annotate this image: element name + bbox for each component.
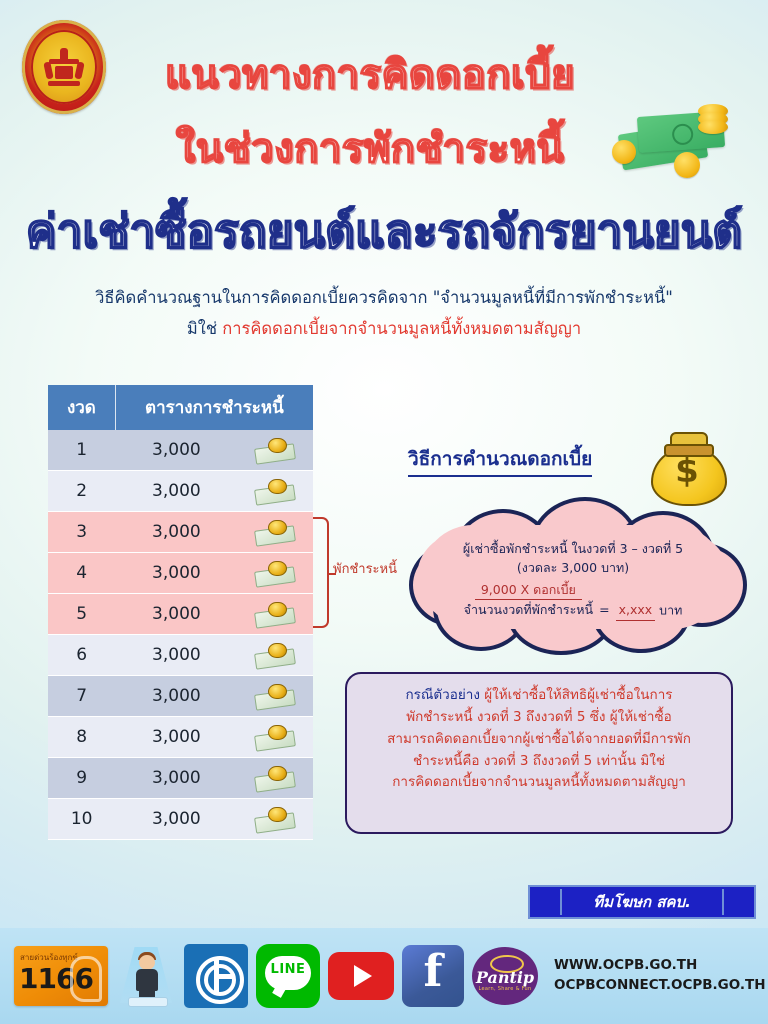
facebook-label: f xyxy=(402,950,464,994)
formula-numerator: 9,000 X ดอกเบี้ย xyxy=(475,580,582,600)
cell-amount: 3,000 xyxy=(115,512,237,553)
website-urls: WWW.OCPB.GO.TH OCPBCONNECT.OCPB.GO.TH xyxy=(554,956,766,995)
officer-avatar-icon xyxy=(116,945,176,1007)
infographic-poster: แนวทางการคิดดอกเบี้ย ในช่วงการพักชำระหนี… xyxy=(0,0,768,1024)
example-line-2: พักชำระหนี้ งวดที่ 3 ถึงงวดที่ 5 ซึ่ง ผู… xyxy=(363,707,715,729)
pantip-icon[interactable]: Pantip Learn, Share & Fun xyxy=(472,947,538,1005)
table-row: 103,000 xyxy=(48,799,313,840)
footer-bar: สายด่วนร้องทุกข์ 1166 LINE f Pantip Lear… xyxy=(0,928,768,1024)
cell-amount: 3,000 xyxy=(115,594,237,635)
cell-period: 3 xyxy=(48,512,115,553)
cloud-line-2: (งวดละ 3,000 บาท) xyxy=(427,558,719,577)
money-bag-icon: $ xyxy=(648,424,726,504)
table-body: 13,00023,00033,00043,00053,00063,00073,0… xyxy=(48,430,313,840)
cell-amount: 3,000 xyxy=(115,430,237,471)
example-line-1-rest: ผู้ให้เช่าซื้อให้สิทธิผู้เช่าซื้อในการ xyxy=(484,687,672,703)
money-note-icon xyxy=(255,479,295,503)
cell-period: 6 xyxy=(48,635,115,676)
cell-money-icon xyxy=(237,512,313,553)
formula-denominator: จำนวนงวดที่พักชำระหนี้ xyxy=(464,600,593,619)
facebook-icon[interactable]: f xyxy=(402,945,464,1007)
ocpb-seal-icon xyxy=(22,20,106,114)
line-app-icon[interactable]: LINE xyxy=(256,944,320,1008)
cell-money-icon xyxy=(237,676,313,717)
money-note-icon xyxy=(255,725,295,749)
table-row: 73,000 xyxy=(48,676,313,717)
cell-period: 8 xyxy=(48,717,115,758)
pantip-tagline: Learn, Share & Fun xyxy=(472,986,538,992)
seal-crest xyxy=(43,46,85,88)
cell-money-icon xyxy=(237,430,313,471)
cloud-text: ผู้เช่าซื้อพักชำระหนี้ ในงวดที่ 3 – งวดท… xyxy=(427,539,719,621)
table-row: 93,000 xyxy=(48,758,313,799)
header-schedule: ตารางการชำระหนี้ xyxy=(115,385,313,430)
cell-period: 2 xyxy=(48,471,115,512)
cell-money-icon xyxy=(237,799,313,840)
money-note-icon xyxy=(255,643,295,667)
money-note-icon xyxy=(255,520,295,544)
line-label: LINE xyxy=(256,962,320,977)
cell-money-icon xyxy=(237,553,313,594)
formula-result: x,xxx xyxy=(616,600,656,620)
example-line-1: กรณีตัวอย่าง ผู้ให้เช่าซื้อให้สิทธิผู้เช… xyxy=(363,685,715,707)
payment-schedule-table: งวด ตารางการชำระหนี้ 13,00023,00033,0004… xyxy=(48,385,313,840)
cell-amount: 3,000 xyxy=(115,635,237,676)
example-line-3: สามารถคิดดอกเบี้ยจากผู้เช่าซื้อได้จากยอด… xyxy=(363,729,715,751)
youtube-icon[interactable] xyxy=(328,952,394,1000)
subtitle-line-2: มิใช่ การคิดดอกเบี้ยจากจำนวนมูลหนี้ทั้งห… xyxy=(0,317,768,342)
cell-money-icon xyxy=(237,758,313,799)
table-row: 83,000 xyxy=(48,717,313,758)
money-bills-icon xyxy=(612,100,740,180)
telephone-icon xyxy=(70,956,102,1002)
cell-amount: 3,000 xyxy=(115,799,237,840)
calculation-cloud: ผู้เช่าซื้อพักชำระหนี้ ในงวดที่ 3 – งวดท… xyxy=(395,495,750,650)
header-period: งวด xyxy=(48,385,115,430)
subtitle-line-1: วิธีคิดคำนวณฐานในการคิดดอกเบี้ยควรคิดจาก… xyxy=(0,286,768,311)
cell-money-icon xyxy=(237,471,313,512)
example-label: กรณีตัวอย่าง xyxy=(405,687,480,703)
cloud-line-1: ผู้เช่าซื้อพักชำระหนี้ ในงวดที่ 3 – งวดท… xyxy=(427,539,719,558)
cell-period: 7 xyxy=(48,676,115,717)
example-box: กรณีตัวอย่าง ผู้ให้เช่าซื้อให้สิทธิผู้เช… xyxy=(345,672,733,834)
cell-money-icon xyxy=(237,717,313,758)
subtitle-red-text: การคิดดอกเบี้ยจากจำนวนมูลหนี้ทั้งหมดตามส… xyxy=(222,319,581,338)
cell-period: 9 xyxy=(48,758,115,799)
table-row: 63,000 xyxy=(48,635,313,676)
example-line-4: ชำระหนี้คือ งวดที่ 3 ถึงงวดที่ 5 เท่านั้… xyxy=(363,751,715,773)
cell-amount: 3,000 xyxy=(115,717,237,758)
cell-amount: 3,000 xyxy=(115,676,237,717)
url-secondary[interactable]: OCPBCONNECT.OCPB.GO.TH xyxy=(554,976,766,996)
cloud-formula: 9,000 X ดอกเบี้ย จำนวนงวดที่พักชำระหนี้ … xyxy=(427,578,719,621)
formula-equals: = xyxy=(593,602,615,617)
formula-unit: บาท xyxy=(659,602,682,617)
subtitle-prefix: มิใช่ xyxy=(187,319,217,338)
cell-amount: 3,000 xyxy=(115,553,237,594)
cell-period: 10 xyxy=(48,799,115,840)
title-line-1: แนวทางการคิดดอกเบี้ย xyxy=(110,42,630,106)
money-note-icon xyxy=(255,438,295,462)
table-row: 43,000 xyxy=(48,553,313,594)
money-note-icon xyxy=(255,561,295,585)
money-note-icon xyxy=(255,602,295,626)
cell-period: 4 xyxy=(48,553,115,594)
money-note-icon xyxy=(255,684,295,708)
table-row: 23,000 xyxy=(48,471,313,512)
cell-amount: 3,000 xyxy=(115,471,237,512)
moratorium-label: พักชำระหนี้ xyxy=(333,558,397,579)
table-row: 53,000 xyxy=(48,594,313,635)
spokesperson-banner: ทีมโฆษก สคบ. xyxy=(528,885,756,919)
table-header-row: งวด ตารางการชำระหนี้ xyxy=(48,385,313,430)
cell-amount: 3,000 xyxy=(115,758,237,799)
money-note-icon xyxy=(255,807,295,831)
example-line-5: การคิดดอกเบี้ยจากจำนวนมูลหนี้ทั้งหมดตามส… xyxy=(363,772,715,794)
table-row: 13,000 xyxy=(48,430,313,471)
cell-period: 5 xyxy=(48,594,115,635)
subtitle-block: วิธีคิดคำนวณฐานในการคิดดอกเบี้ยควรคิดจาก… xyxy=(0,286,768,342)
ocpb-logo-icon[interactable] xyxy=(184,944,248,1008)
calculation-heading: วิธีการคำนวณดอกเบี้ย xyxy=(408,444,592,477)
hotline-1166-icon[interactable]: สายด่วนร้องทุกข์ 1166 xyxy=(14,946,108,1006)
pantip-label: Pantip xyxy=(472,968,538,987)
url-primary[interactable]: WWW.OCPB.GO.TH xyxy=(554,956,766,976)
money-note-icon xyxy=(255,766,295,790)
table-row: 33,000 xyxy=(48,512,313,553)
cell-money-icon xyxy=(237,594,313,635)
title-line-2: ในช่วงการพักชำระหนี้ xyxy=(110,116,630,180)
cell-money-icon xyxy=(237,635,313,676)
moratorium-bracket xyxy=(313,517,329,628)
banner-text: ทีมโฆษก สคบ. xyxy=(560,889,724,915)
title-line-3: ค่าเช่าซื้อรถยนต์และรถจักรยานยนต์ xyxy=(0,195,768,268)
cell-period: 1 xyxy=(48,430,115,471)
